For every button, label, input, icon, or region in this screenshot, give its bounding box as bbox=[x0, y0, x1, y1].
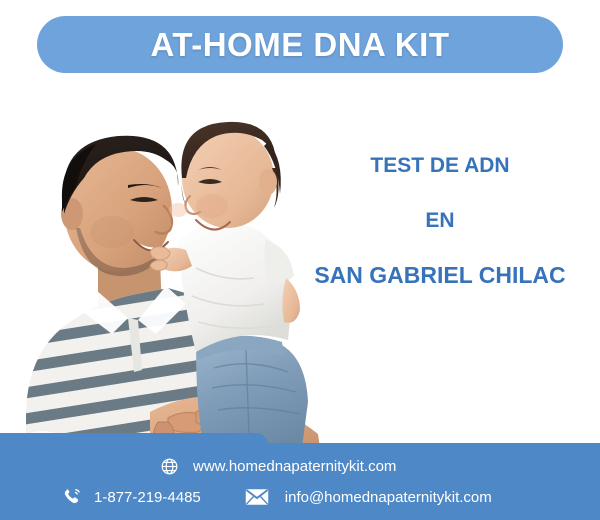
envelope-icon bbox=[245, 488, 269, 506]
phone-icon bbox=[62, 487, 82, 507]
heading-block: TEST DE ADN EN SAN GABRIEL CHILAC bbox=[290, 155, 590, 287]
globe-icon bbox=[160, 457, 179, 476]
heading-line-test-de-adn: TEST DE ADN bbox=[290, 155, 590, 176]
family-photo-illustration bbox=[0, 82, 330, 462]
footer-website-text[interactable]: www.homednapaternitykit.com bbox=[193, 458, 396, 475]
heading-line-location: SAN GABRIEL CHILAC bbox=[290, 264, 590, 287]
banner-title: AT-HOME DNA KIT bbox=[151, 26, 450, 64]
family-photo bbox=[0, 82, 330, 462]
footer-email-text[interactable]: info@homednapaternitykit.com bbox=[285, 489, 492, 506]
poster-canvas: AT-HOME DNA KIT bbox=[0, 0, 600, 520]
footer-contact-row: 1-877-219-4485 info@homednapaternitykit.… bbox=[62, 485, 492, 509]
footer-website-row: www.homednapaternitykit.com bbox=[160, 455, 396, 477]
heading-line-en: EN bbox=[290, 210, 590, 231]
footer-phone-text[interactable]: 1-877-219-4485 bbox=[94, 489, 201, 506]
header-banner: AT-HOME DNA KIT bbox=[37, 16, 563, 73]
